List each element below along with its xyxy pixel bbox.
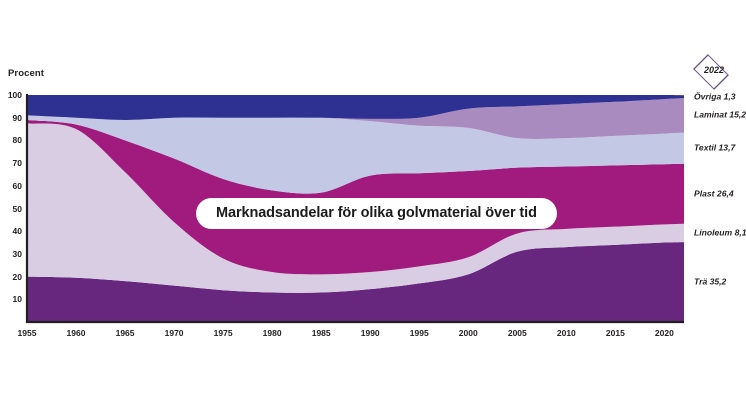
floor-material-market-share-chart: Procent 100908070605040302010 1955196019… (0, 0, 746, 419)
year-badge: 2022 (694, 61, 734, 89)
x-tick-1965: 1965 (116, 329, 135, 338)
x-tick-1980: 1980 (263, 329, 282, 338)
x-tick-2010: 2010 (557, 329, 576, 338)
legend-item-plast: Plast 26,4 (694, 189, 734, 198)
chart-title-pill: Marknadsandelar för olika golvmaterial ö… (196, 198, 557, 229)
x-tick-1960: 1960 (67, 329, 86, 338)
x-tick-2000: 2000 (459, 329, 478, 338)
x-tick-1955: 1955 (18, 329, 37, 338)
legend-item-övriga: Övriga 1,3 (694, 92, 736, 101)
year-badge-label: 2022 (694, 65, 734, 75)
x-tick-1995: 1995 (410, 329, 429, 338)
x-tick-2020: 2020 (655, 329, 674, 338)
legend-item-laminat: Laminat 15,2 (694, 111, 746, 120)
legend-item-textil: Textil 13,7 (694, 144, 735, 153)
x-tick-1990: 1990 (361, 329, 380, 338)
legend-item-linoleum: Linoleum 8,1 (694, 229, 746, 238)
x-tick-2015: 2015 (606, 329, 625, 338)
x-tick-2005: 2005 (508, 329, 527, 338)
x-axis-tick-labels: 1955196019651970197519801985199019952000… (0, 329, 746, 343)
x-tick-1975: 1975 (214, 329, 233, 338)
x-tick-1985: 1985 (312, 329, 331, 338)
x-tick-1970: 1970 (165, 329, 184, 338)
legend-item-trä: Trä 35,2 (694, 278, 726, 287)
